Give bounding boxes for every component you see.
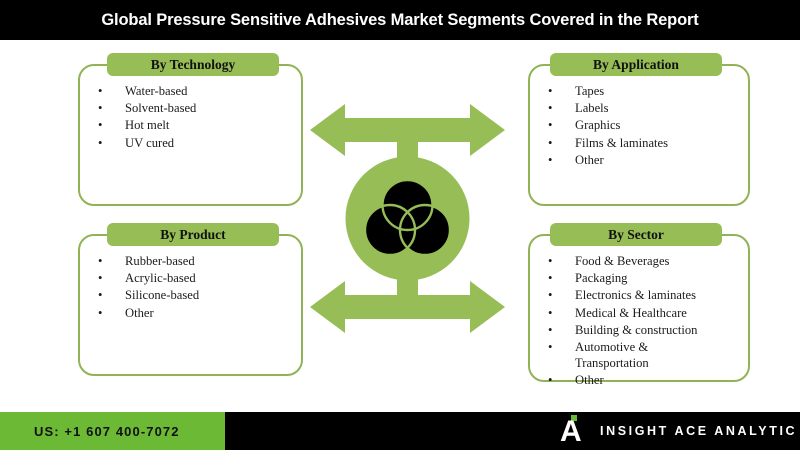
list-item: •Hot melt (94, 118, 293, 134)
list-item-label: Packaging (575, 271, 627, 285)
infographic-page: Global Pressure Sensitive Adhesives Mark… (0, 0, 800, 450)
segment-list-application: •Tapes•Labels•Graphics•Films & laminates… (544, 84, 740, 170)
list-item-label: Building & construction (575, 323, 697, 337)
brand-letter-a: A (560, 417, 582, 447)
bullet-icon: • (98, 118, 102, 134)
list-item: •Tapes (544, 84, 740, 100)
footer-bar: US: +1 607 400-7072 A INSIGHT ACE ANALYT… (0, 412, 800, 450)
bullet-icon: • (548, 136, 552, 152)
list-item-label: Other (575, 373, 604, 387)
list-item-label: Transportation (575, 356, 740, 372)
list-item-label: Solvent-based (125, 101, 196, 115)
bullet-icon: • (98, 288, 102, 304)
bullet-icon: • (98, 254, 102, 270)
segment-card-application: By Application •Tapes•Labels•Graphics•Fi… (528, 64, 750, 206)
bullet-icon: • (548, 254, 552, 270)
list-item-label: Other (575, 153, 604, 167)
segment-badge-application: By Application (550, 53, 722, 76)
bullet-icon: • (548, 101, 552, 117)
list-item: •Solvent-based (94, 101, 293, 117)
bullet-icon: • (98, 84, 102, 100)
segment-card-technology: By Technology •Water-based•Solvent-based… (78, 64, 303, 206)
bullet-icon: • (548, 340, 552, 356)
segment-card-sector: By Sector •Food & Beverages•Packaging•El… (528, 234, 750, 382)
bullet-icon: • (548, 84, 552, 100)
list-item-label: Silicone-based (125, 288, 199, 302)
list-item: •Acrylic-based (94, 271, 293, 287)
list-item: •Food & Beverages (544, 254, 740, 270)
list-item: •Labels (544, 101, 740, 117)
list-item-label: Graphics (575, 118, 620, 132)
bullet-icon: • (98, 101, 102, 117)
list-item: •Automotive &Transportation (544, 340, 740, 371)
list-item: •Water-based (94, 84, 293, 100)
list-item: •Graphics (544, 118, 740, 134)
list-item-label: Hot melt (125, 118, 169, 132)
segment-list-technology: •Water-based•Solvent-based•Hot melt•UV c… (94, 84, 293, 153)
list-item-label: Electronics & laminates (575, 288, 696, 302)
central-hub (305, 96, 510, 341)
list-item: •Films & laminates (544, 136, 740, 152)
list-item: •Building & construction (544, 323, 740, 339)
bullet-icon: • (548, 271, 552, 287)
brand-name: INSIGHT ACE ANALYTIC (600, 424, 797, 438)
list-item: •Silicone-based (94, 288, 293, 304)
segment-card-product: By Product •Rubber-based•Acrylic-based•S… (78, 234, 303, 376)
list-item-label: Automotive & (575, 340, 648, 354)
segment-badge-technology: By Technology (107, 53, 279, 76)
list-item-label: Labels (575, 101, 609, 115)
list-item: •Medical & Healthcare (544, 306, 740, 322)
list-item-label: Films & laminates (575, 136, 668, 150)
list-item-label: Water-based (125, 84, 187, 98)
title-bar: Global Pressure Sensitive Adhesives Mark… (0, 0, 800, 40)
footer-phone[interactable]: US: +1 607 400-7072 (0, 412, 225, 450)
segment-badge-sector: By Sector (550, 223, 722, 246)
list-item-label: Acrylic-based (125, 271, 196, 285)
list-item-label: Tapes (575, 84, 604, 98)
segment-list-product: •Rubber-based•Acrylic-based•Silicone-bas… (94, 254, 293, 323)
bullet-icon: • (548, 288, 552, 304)
list-item: •Packaging (544, 271, 740, 287)
list-item: •Other (544, 153, 740, 169)
list-item-label: Food & Beverages (575, 254, 669, 268)
list-item: •Other (94, 306, 293, 322)
list-item-label: Medical & Healthcare (575, 306, 687, 320)
brand-logo: A INSIGHT ACE ANALYTIC (560, 412, 797, 450)
bullet-icon: • (548, 323, 552, 339)
arrow-bottom-right (413, 281, 505, 333)
arrow-bottom-left (310, 281, 402, 333)
bullet-icon: • (548, 118, 552, 134)
bullet-icon: • (548, 153, 552, 169)
list-item: •Other (544, 373, 740, 389)
hub-graphic (305, 96, 510, 341)
list-item-label: Rubber-based (125, 254, 195, 268)
list-item: •Rubber-based (94, 254, 293, 270)
bullet-icon: • (98, 306, 102, 322)
bullet-icon: • (98, 136, 102, 152)
list-item: •Electronics & laminates (544, 288, 740, 304)
segment-list-sector: •Food & Beverages•Packaging•Electronics … (544, 254, 740, 390)
arrow-top-right (413, 104, 505, 156)
bullet-icon: • (548, 373, 552, 389)
page-title: Global Pressure Sensitive Adhesives Mark… (101, 11, 698, 30)
brand-mark-icon: A (560, 415, 586, 447)
bullet-icon: • (98, 271, 102, 287)
segment-badge-product: By Product (107, 223, 279, 246)
list-item-label: UV cured (125, 136, 174, 150)
list-item: •UV cured (94, 136, 293, 152)
list-item-label: Other (125, 306, 154, 320)
bullet-icon: • (548, 306, 552, 322)
arrow-top-left (310, 104, 402, 156)
